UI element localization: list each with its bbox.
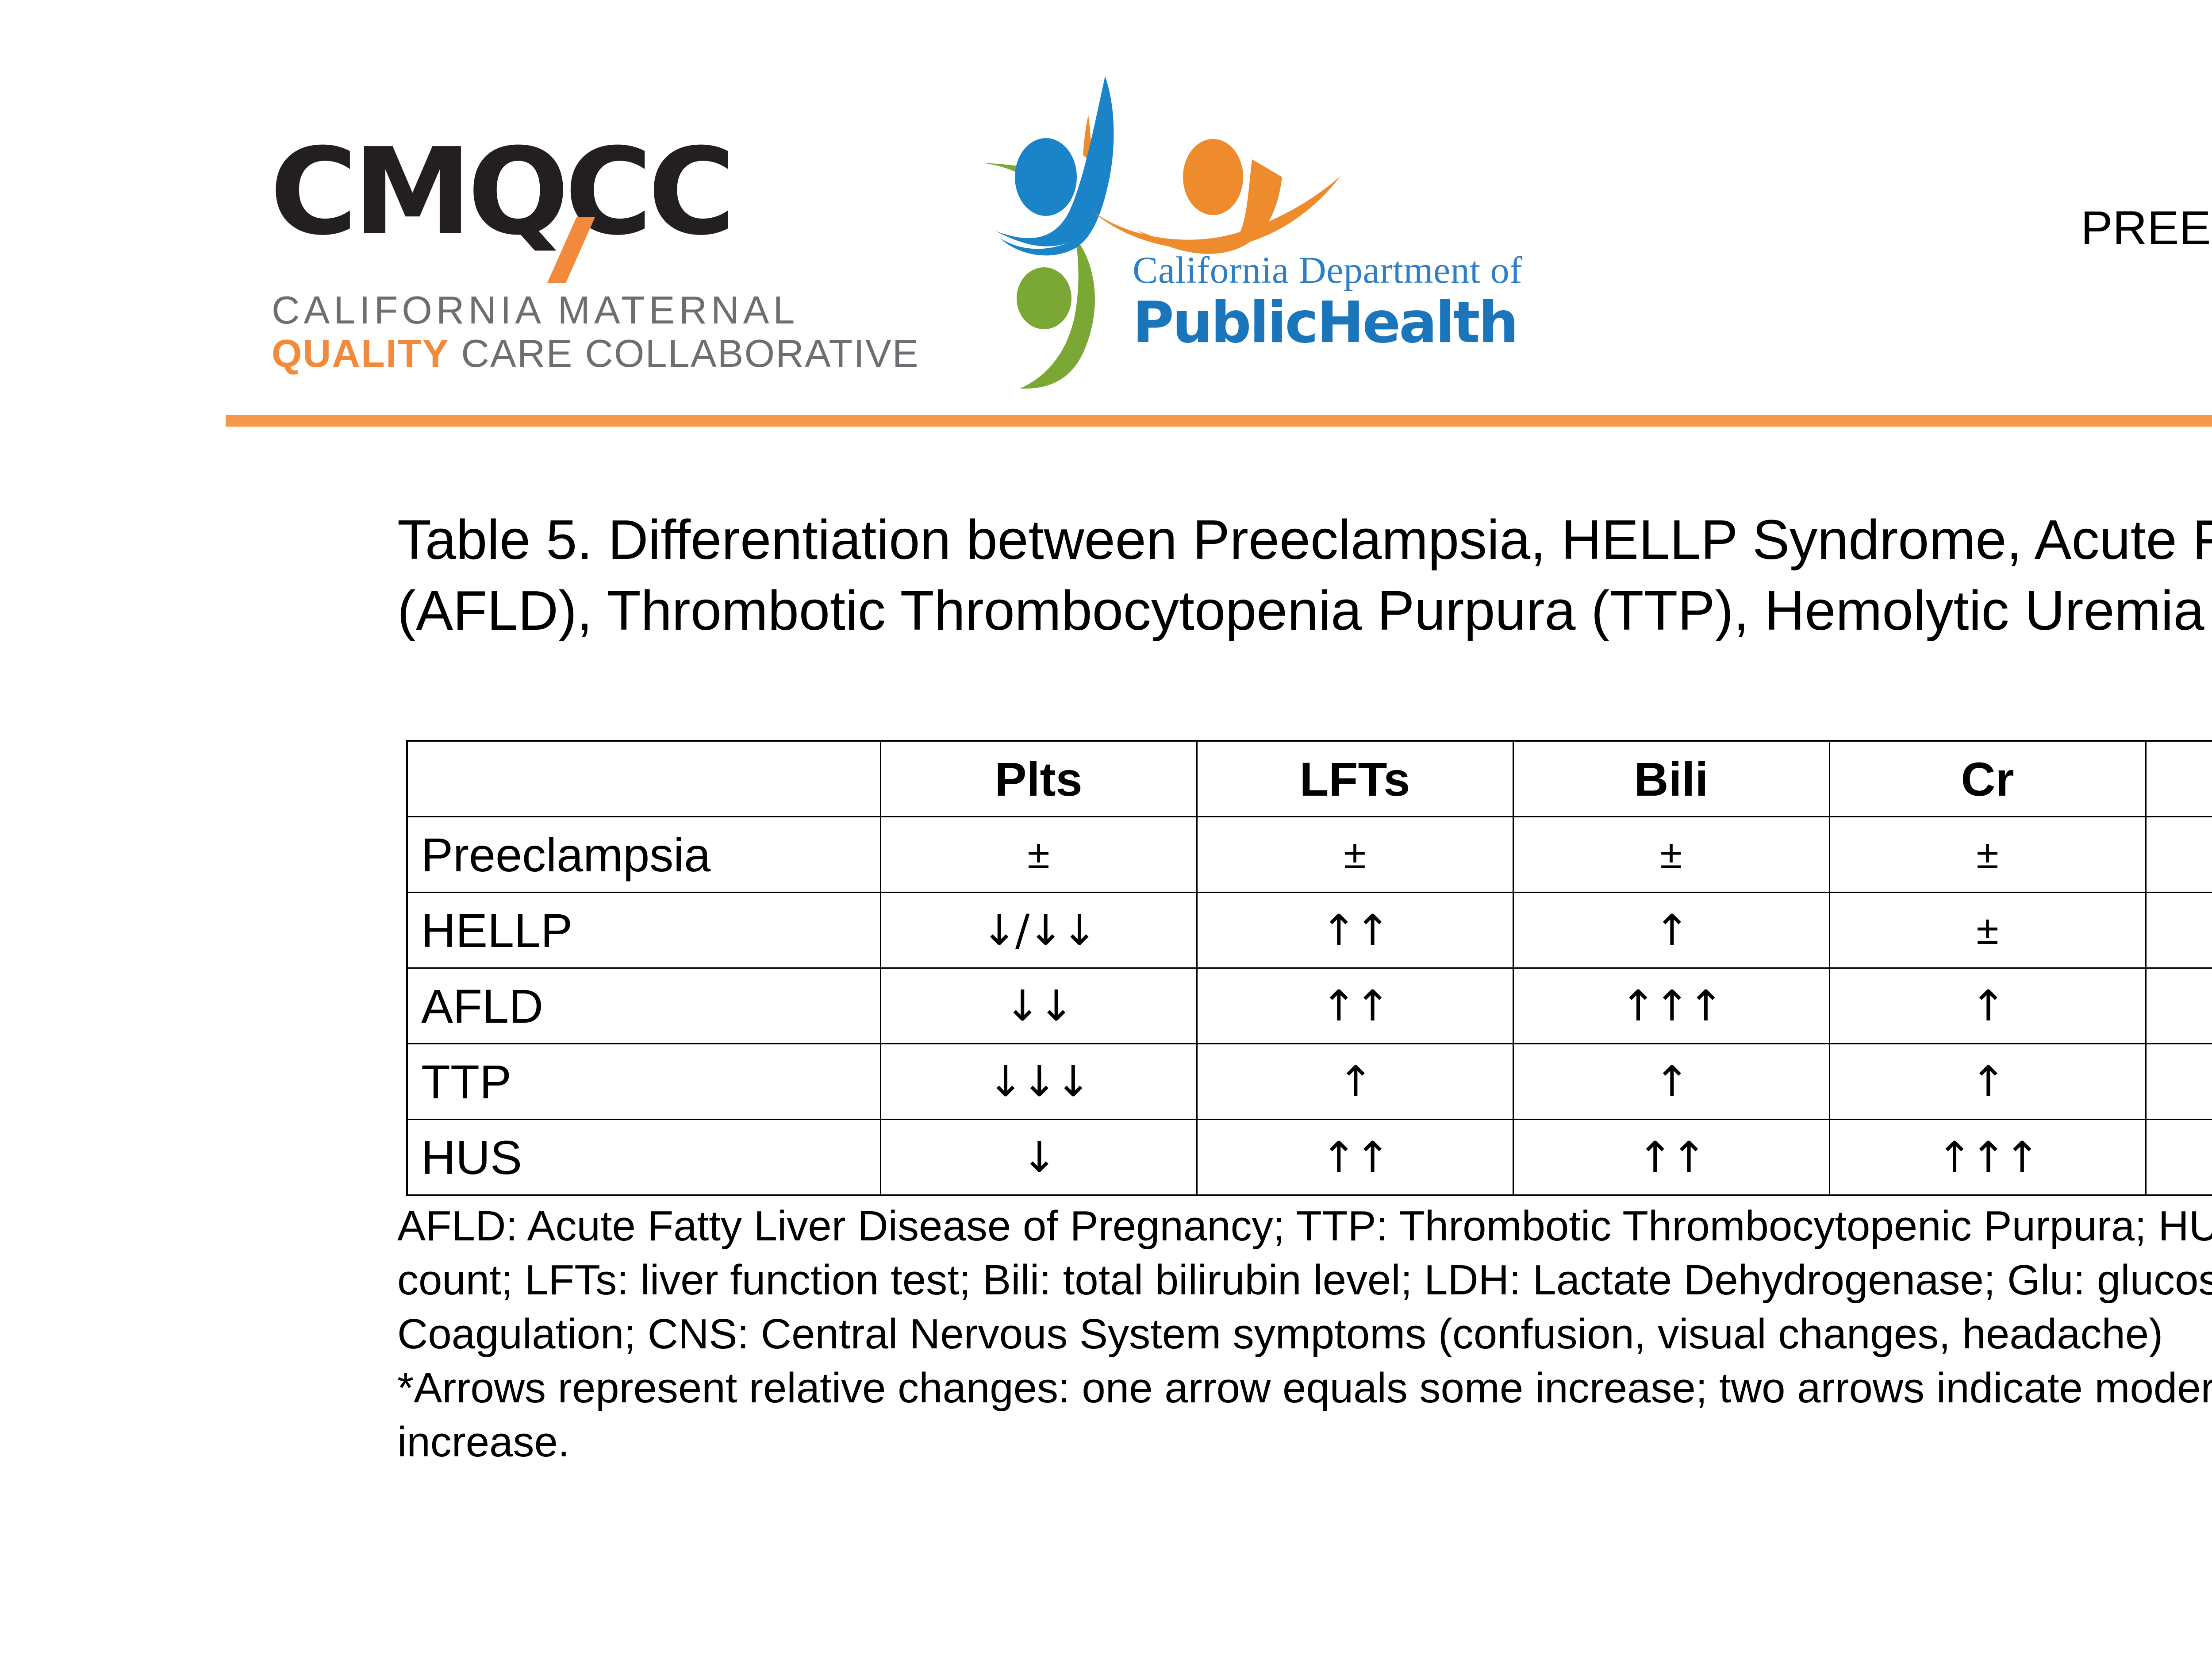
cdph-logo: California Department of PublicHealth	[942, 66, 1540, 389]
table-row: HUS ↓ ↑↑ ↑↑ ↑↑↑ ↑ → ± ±	[407, 1120, 2212, 1196]
cmqcc-tagline-quality: QUALITY	[272, 331, 449, 375]
cell-preeclampsia-plts: ±	[880, 817, 1197, 893]
cell-hellp-plts: ↓/↓↓	[880, 893, 1197, 968]
cell-hus-plts: ↓	[880, 1120, 1197, 1196]
header-title-line-1: PREECLAMPSIA CARE GUIDELINES AND	[2081, 199, 2212, 257]
cmqcc-tagline-line1: CALIFORNIA MATERNAL	[272, 288, 799, 333]
table-footnotes: AFLD: Acute Fatty Liver Disease of Pregn…	[397, 1199, 2212, 1469]
cell-afld-cr: ↑	[1829, 968, 2146, 1044]
table-header-row: Plts LFTs Bili Cr LDH Glu DIC CNS	[407, 741, 2212, 817]
page-header: CMQCC CALIFORNIA MATERNAL QUALITY CARE C…	[0, 0, 2212, 443]
column-header-plts: Plts	[880, 741, 1197, 817]
cell-ttp-plts: ↓↓↓	[880, 1044, 1197, 1120]
cell-preeclampsia-bili: ±	[1513, 817, 1829, 893]
cell-hellp-lfts: ↑↑	[1197, 893, 1513, 968]
column-header-ldh: LDH	[2146, 741, 2212, 817]
cell-hus-lfts: ↑↑	[1197, 1120, 1513, 1196]
cell-afld-plts: ↓↓	[880, 968, 1197, 1044]
cell-preeclampsia-ldh: ±	[2146, 817, 2212, 893]
column-header-blank	[407, 741, 880, 817]
cell-hus-ldh: ↑	[2146, 1120, 2212, 1196]
table-row: Preeclampsia ± ± ± ± ± → ± ±	[407, 817, 2212, 893]
cmqcc-wordmark-text: CMQCC	[270, 126, 731, 258]
cell-hus-cr: ↑↑↑	[1829, 1120, 2146, 1196]
footnote-abbreviations: AFLD: Acute Fatty Liver Disease of Pregn…	[397, 1199, 2212, 1361]
row-label-afld: AFLD	[407, 968, 880, 1044]
cdph-logo-line1: California Department of	[1133, 248, 1531, 292]
cell-afld-bili: ↑↑↑	[1513, 968, 1829, 1044]
cmqcc-logo: CMQCC CALIFORNIA MATERNAL QUALITY CARE C…	[270, 146, 854, 376]
column-header-cr: Cr	[1829, 741, 2146, 817]
row-label-hellp: HELLP	[407, 893, 880, 968]
table-row: TTP ↓↓↓ ↑ ↑ ↑ ↑↑ → ± ++	[407, 1044, 2212, 1120]
cell-hellp-cr: ±	[1829, 893, 2146, 968]
row-label-preeclampsia: Preeclampsia	[407, 817, 880, 893]
column-header-bili: Bili	[1513, 741, 1829, 817]
cmqcc-tagline-line2: QUALITY CARE COLLABORATIVE	[272, 331, 919, 376]
table-row: HELLP ↓/↓↓ ↑↑ ↑ ± ↑ → ± ±	[407, 893, 2212, 968]
table-row: AFLD ↓↓ ↑↑ ↑↑↑ ↑ ↑ ↓↓↓ ↑↑↑ ±	[407, 968, 2212, 1044]
cdph-logo-text: California Department of PublicHealth	[1133, 248, 1531, 354]
header-divider	[226, 415, 2212, 427]
column-header-lfts: LFTs	[1197, 741, 1513, 817]
row-label-hus: HUS	[407, 1120, 880, 1196]
header-title-block: PREECLAMPSIA CARE GUIDELINES AND CMQCC P…	[2081, 199, 2212, 372]
cell-preeclampsia-cr: ±	[1829, 817, 2146, 893]
cell-ttp-ldh: ↑↑	[2146, 1044, 2212, 1120]
cell-preeclampsia-lfts: ±	[1197, 817, 1513, 893]
cell-afld-ldh: ↑	[2146, 968, 2212, 1044]
cell-hellp-ldh: ↑	[2146, 893, 2212, 968]
cell-ttp-bili: ↑	[1513, 1044, 1829, 1120]
footnote-arrows-note: *Arrows represent relative changes: one …	[397, 1361, 2212, 1469]
cdph-logo-line2: PublicHealth	[1133, 292, 1531, 354]
table-caption: Table 5. Differentiation between Preecla…	[397, 504, 2212, 646]
differentiation-table: Plts LFTs Bili Cr LDH Glu DIC CNS Preecl…	[406, 740, 2212, 1196]
cell-ttp-cr: ↑	[1829, 1044, 2146, 1120]
cell-hellp-bili: ↑	[1513, 893, 1829, 968]
row-label-ttp: TTP	[407, 1044, 880, 1120]
header-approval-date: CDPH-MCAH Approved: 12/20/13	[2081, 314, 2212, 372]
cell-hus-bili: ↑↑	[1513, 1120, 1829, 1196]
cell-afld-lfts: ↑↑	[1197, 968, 1513, 1044]
cmqcc-wordmark: CMQCC	[270, 146, 854, 279]
cell-ttp-lfts: ↑	[1197, 1044, 1513, 1120]
header-title-line-2: CMQCC PREECLAMPSIA TOOLKIT	[2081, 257, 2212, 314]
cmqcc-tagline-rest: CARE COLLABORATIVE	[449, 331, 919, 375]
